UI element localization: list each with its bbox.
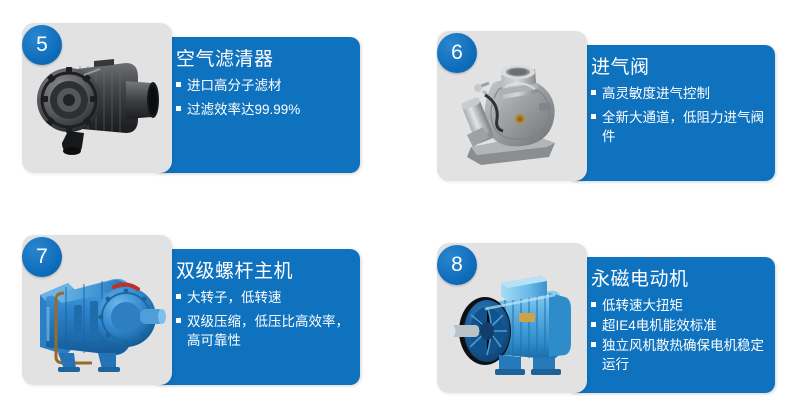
- card-7-bullet-2-text: 双级压缩，低压比高效率，高可靠性: [187, 314, 349, 348]
- feature-card-5: 空气滤清器 进口高分子滤材 过滤效率达99.99%: [15, 23, 360, 173]
- card-8-bullet-2: 超IE4电机能效标准: [591, 316, 769, 335]
- feature-card-board: 空气滤清器 进口高分子滤材 过滤效率达99.99%: [0, 0, 790, 414]
- card-7-bullet-list: 大转子，低转速 双级压缩，低压比高效率，高可靠性: [176, 288, 354, 350]
- card-6-bullet-2-text: 全新大通道，低阻力进气阀件: [602, 110, 764, 144]
- card-5-text-panel: 空气滤清器 进口高分子滤材 过滤效率达99.99%: [152, 37, 360, 173]
- card-8-bullet-list: 低转速大扭矩 超IE4电机能效标准 独立风机散热确保电机稳定运行: [591, 296, 769, 374]
- card-7-bullet-2: 双级压缩，低压比高效率，高可靠性: [176, 312, 354, 350]
- card-5-bullet-2: 过滤效率达99.99%: [176, 100, 354, 119]
- square-bullet-icon: [176, 318, 181, 323]
- card-8-bullet-1: 低转速大扭矩: [591, 296, 769, 315]
- card-6-bullet-2: 全新大通道，低阻力进气阀件: [591, 108, 769, 146]
- card-5-number-badge: 5: [22, 25, 62, 65]
- card-6-bullet-list: 高灵敏度进气控制 全新大通道，低阻力进气阀件: [591, 84, 769, 146]
- square-bullet-icon: [176, 82, 181, 87]
- card-5-bullet-1-text: 进口高分子滤材: [187, 78, 282, 93]
- card-8-bullet-3: 独立风机散热确保电机稳定运行: [591, 336, 769, 374]
- square-bullet-icon: [591, 302, 596, 307]
- card-6-number-badge: 6: [437, 33, 477, 73]
- card-7-title: 双级螺杆主机: [176, 259, 354, 285]
- square-bullet-icon: [591, 90, 596, 95]
- square-bullet-icon: [591, 322, 596, 327]
- square-bullet-icon: [176, 106, 181, 111]
- card-7-text-panel: 双级螺杆主机 大转子，低转速 双级压缩，低压比高效率，高可靠性: [152, 249, 360, 385]
- feature-card-7: 双级螺杆主机 大转子，低转速 双级压缩，低压比高效率，高可靠性: [15, 235, 360, 385]
- card-8-number-badge: 8: [437, 245, 477, 285]
- card-6-title: 进气阀: [591, 55, 769, 81]
- card-6-bullet-1: 高灵敏度进气控制: [591, 84, 769, 103]
- card-7-bullet-1-text: 大转子，低转速: [187, 290, 282, 305]
- feature-card-8: 永磁电动机 低转速大扭矩 超IE4电机能效标准 独立风机散热确保电机稳定运行: [430, 243, 775, 393]
- card-6-text-panel: 进气阀 高灵敏度进气控制 全新大通道，低阻力进气阀件: [567, 45, 775, 181]
- card-8-title: 永磁电动机: [591, 267, 769, 293]
- card-5-title: 空气滤清器: [176, 47, 354, 73]
- card-7-number-badge: 7: [22, 237, 62, 277]
- card-8-bullet-2-text: 超IE4电机能效标准: [602, 318, 717, 333]
- square-bullet-icon: [591, 342, 596, 347]
- card-7-bullet-1: 大转子，低转速: [176, 288, 354, 307]
- card-5-bullet-list: 进口高分子滤材 过滤效率达99.99%: [176, 76, 354, 119]
- card-8-text-panel: 永磁电动机 低转速大扭矩 超IE4电机能效标准 独立风机散热确保电机稳定运行: [567, 257, 775, 393]
- feature-card-6: 进气阀 高灵敏度进气控制 全新大通道，低阻力进气阀件: [430, 31, 775, 181]
- square-bullet-icon: [591, 114, 596, 119]
- card-5-bullet-1: 进口高分子滤材: [176, 76, 354, 95]
- card-6-bullet-1-text: 高灵敏度进气控制: [602, 86, 710, 101]
- square-bullet-icon: [176, 294, 181, 299]
- card-8-bullet-1-text: 低转速大扭矩: [602, 298, 683, 313]
- card-8-bullet-3-text: 独立风机散热确保电机稳定运行: [602, 338, 764, 372]
- card-5-bullet-2-text: 过滤效率达99.99%: [187, 102, 300, 117]
